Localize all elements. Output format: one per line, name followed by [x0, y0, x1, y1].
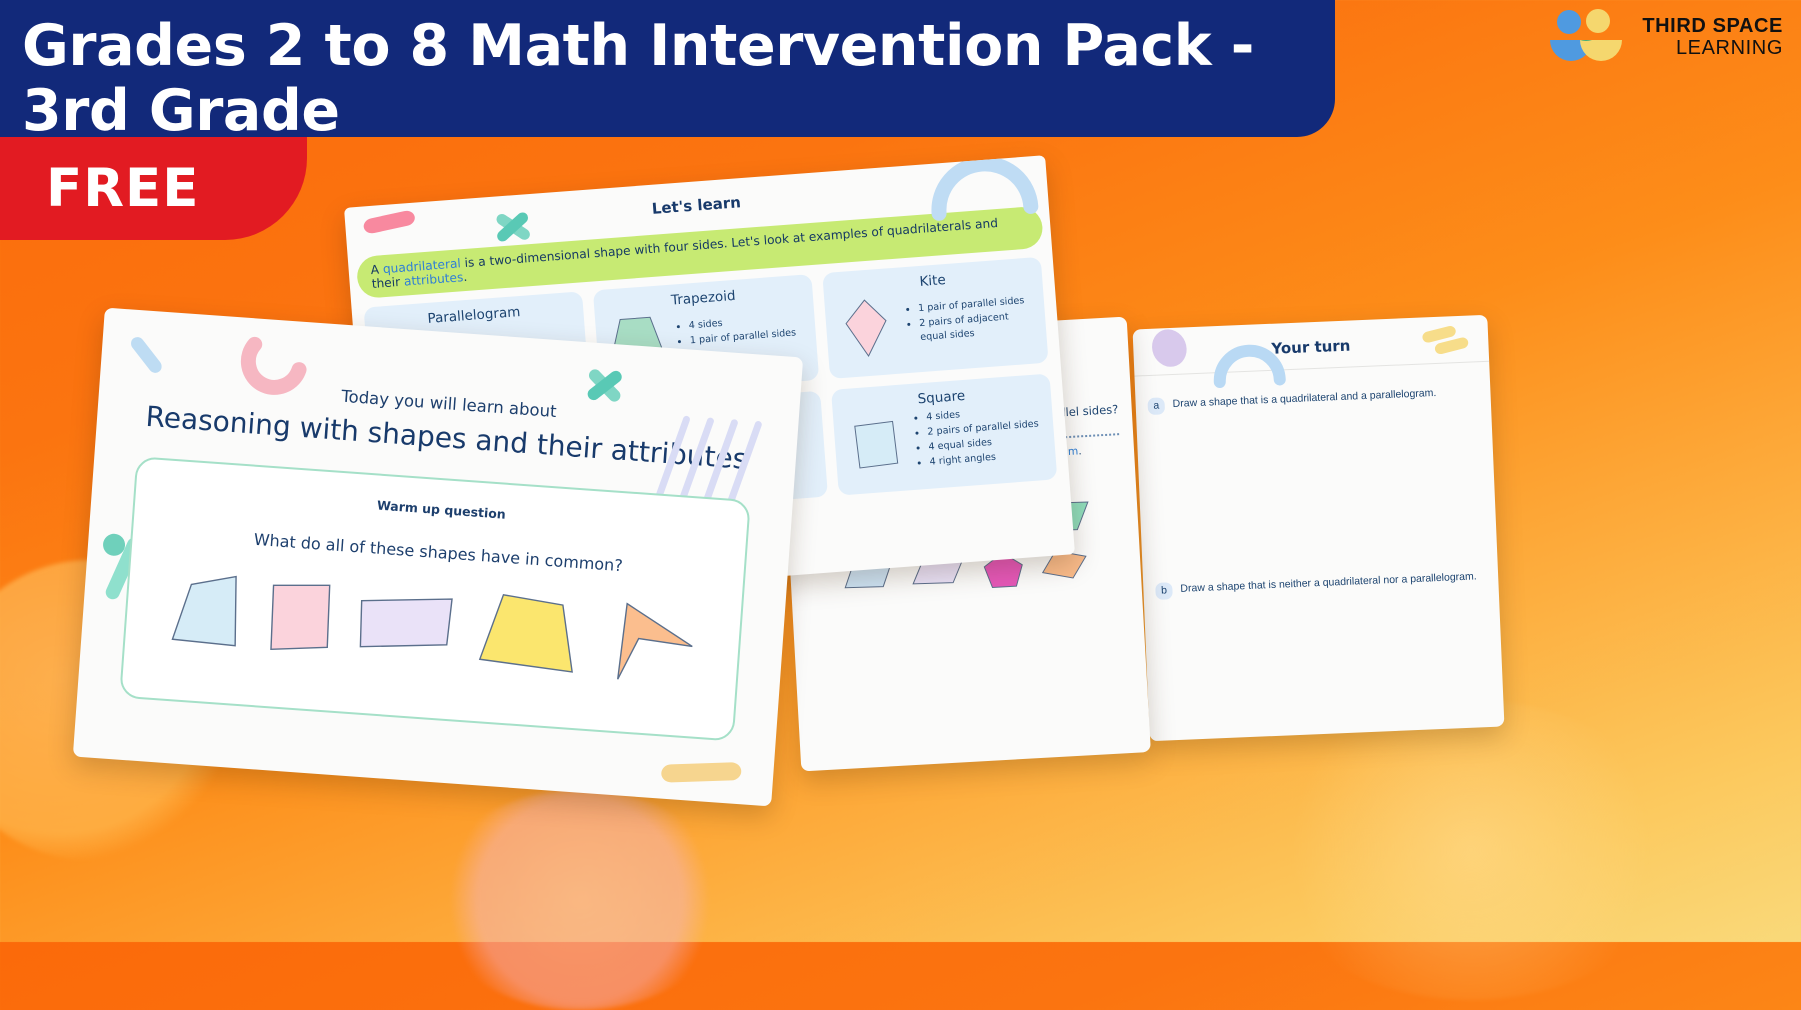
page-title: Grades 2 to 8 Math Intervention Pack - 3…: [0, 0, 1335, 144]
free-badge-label: FREE: [0, 137, 307, 240]
shape-card-kite: Kite 1 pair of parallel sides 2 pairs of…: [822, 257, 1048, 379]
question-text-b2: Draw a shape that is neither a quadrilat…: [1180, 569, 1477, 594]
slide-your-turn[interactable]: Your turn a Draw a shape that is a quadr…: [1133, 315, 1505, 742]
logo-wordmark: THIRD SPACE LEARNING: [1642, 16, 1783, 59]
slide-today-you-will-learn[interactable]: Today you will learn about Reasoning wit…: [73, 308, 803, 807]
your-turn-header: Your turn: [1133, 315, 1490, 376]
logo-line-2: LEARNING: [1642, 38, 1783, 60]
your-turn-item-a: a Draw a shape that is a quadrilateral a…: [1147, 384, 1474, 415]
shape-pink-square-icon[interactable]: [265, 577, 334, 657]
shape-yellow-trapezoid-icon[interactable]: [476, 589, 580, 678]
intro-suffix: .: [463, 270, 468, 284]
shape-orange-dart-icon[interactable]: [599, 596, 697, 688]
classify-suffix: .: [1078, 445, 1082, 457]
deco-amber-pill-icon: [658, 750, 750, 790]
your-turn-item-b: b Draw a shape that is neither a quadril…: [1155, 569, 1482, 600]
shape-lavender-rectangle-icon[interactable]: [355, 590, 455, 659]
logo-line-1: THIRD SPACE: [1642, 16, 1783, 38]
brand-logo: THIRD SPACE LEARNING: [1544, 8, 1783, 68]
background-blob-pink: [430, 790, 730, 1010]
background-blob-amber: [1261, 700, 1681, 1000]
header-banner: Grades 2 to 8 Math Intervention Pack - 3…: [0, 0, 1335, 137]
figure-square-icon: [842, 418, 909, 471]
question-tag-b2: b: [1155, 582, 1173, 600]
logo-mark-icon: [1544, 8, 1628, 68]
intro-keyword-attributes: attributes: [403, 270, 463, 288]
figure-kite-icon: [832, 296, 900, 361]
shape-blue-quadrilateral-icon[interactable]: [169, 569, 244, 652]
slide-your-turn-title: Your turn: [1133, 315, 1489, 364]
warmup-shape-row: [125, 562, 742, 692]
question-text-a: Draw a shape that is a quadrilateral and…: [1172, 386, 1436, 410]
warmup-box: Warm up question What do all of these sh…: [119, 456, 751, 741]
shape-card-square: Square 4 sides 2 pairs of parallel sides…: [831, 373, 1057, 495]
free-badge: FREE: [0, 137, 307, 240]
question-tag-a: a: [1147, 397, 1165, 415]
